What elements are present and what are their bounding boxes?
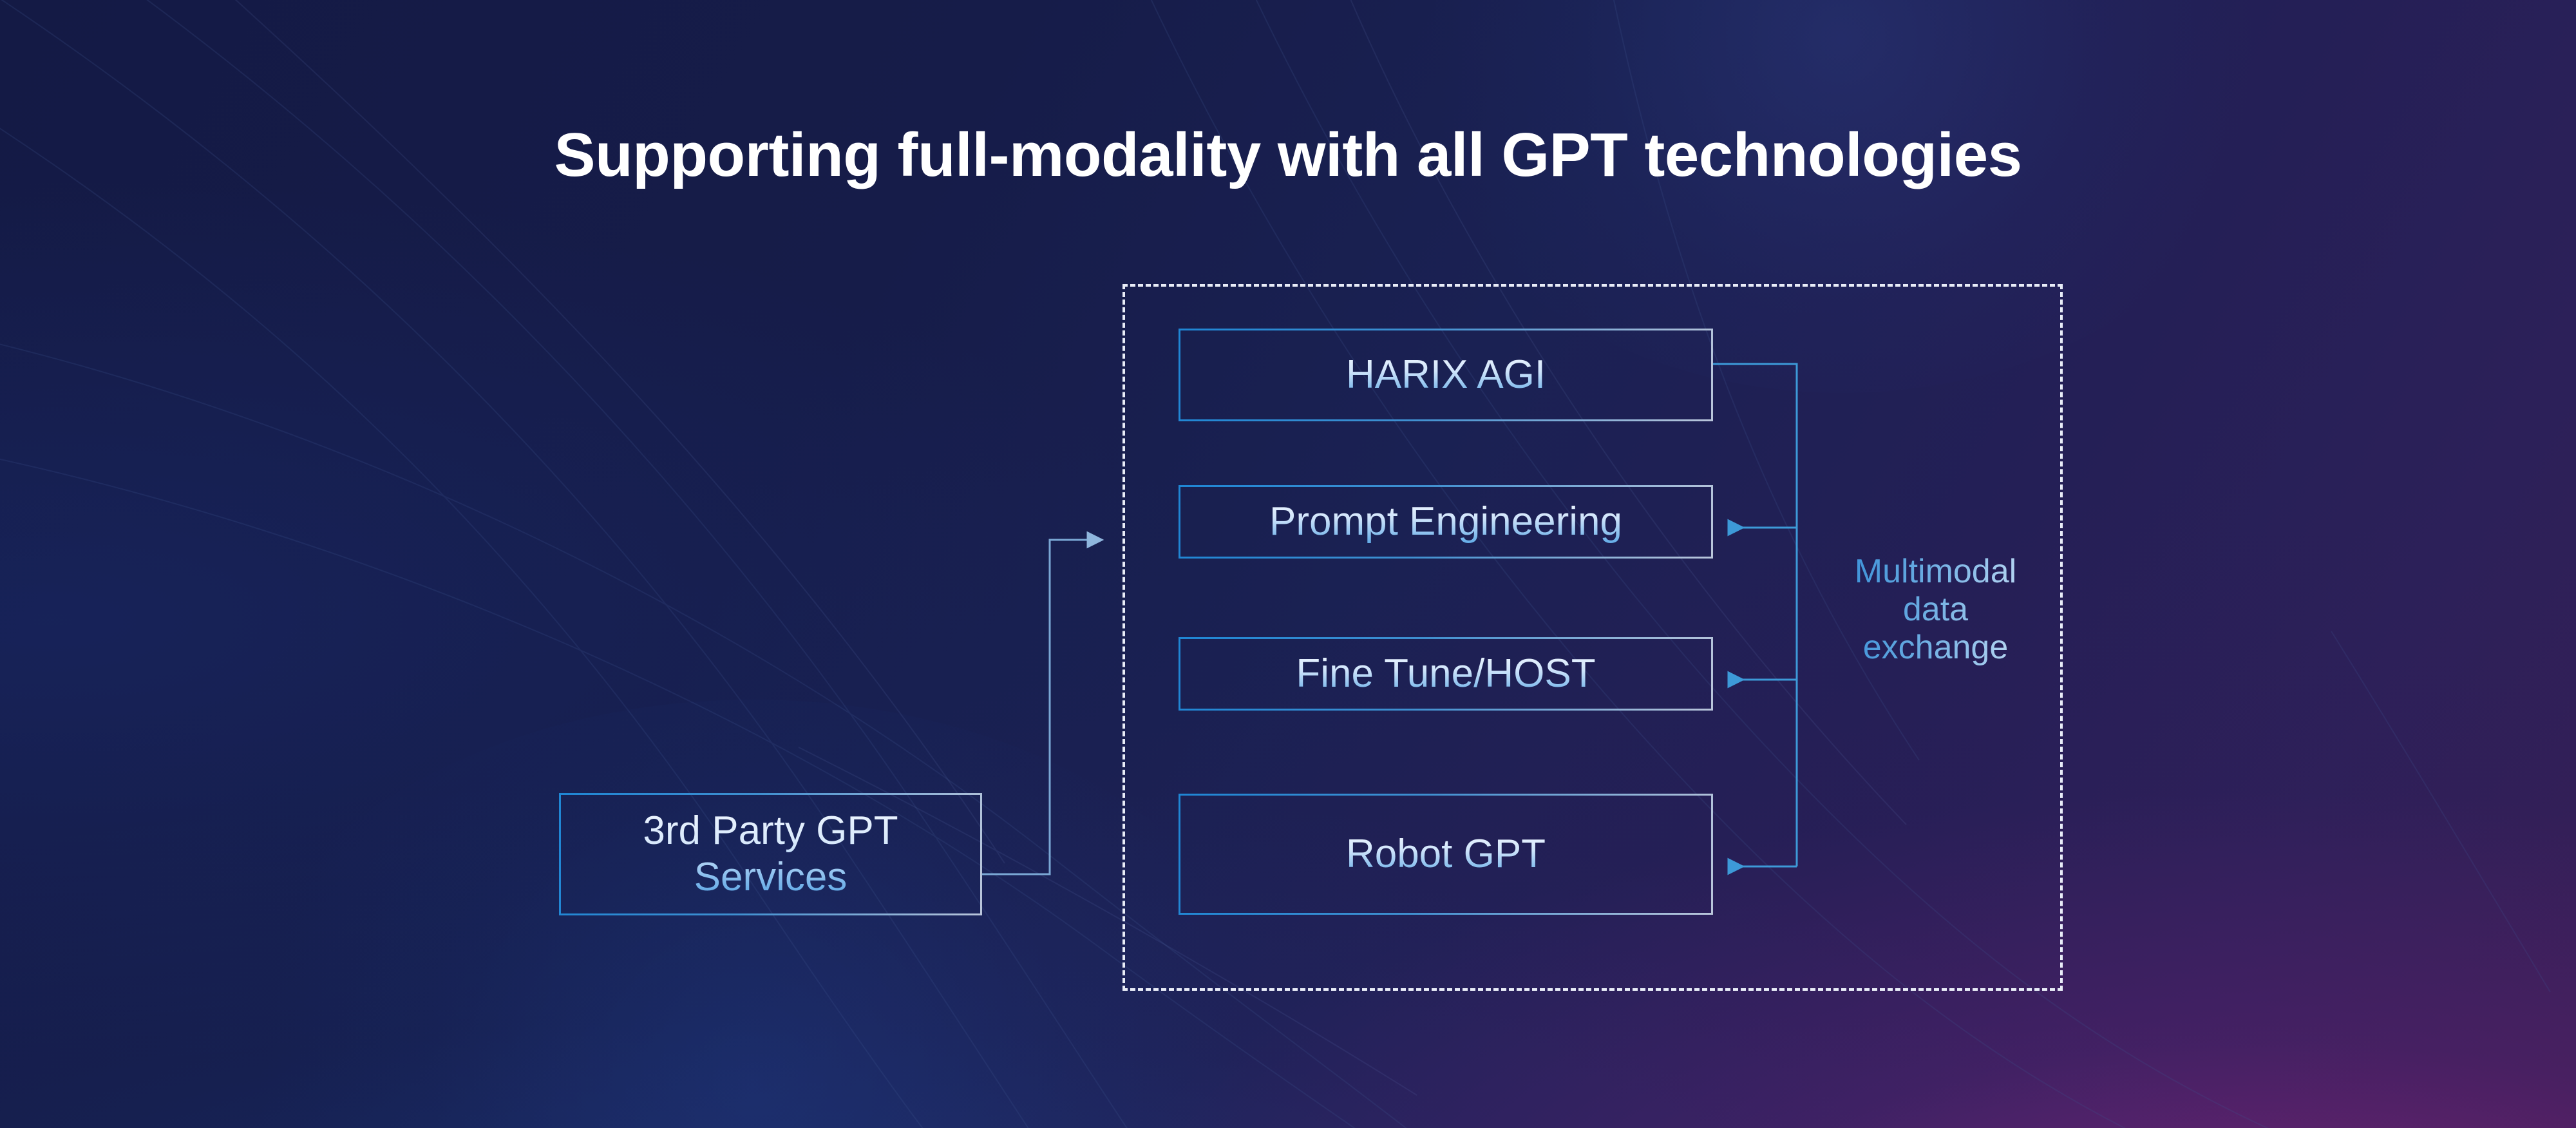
node-third-party-gpt-services-label: 3rd Party GPT Services: [643, 808, 898, 901]
node-prompt-engineering-label: Prompt Engineering: [1269, 499, 1622, 545]
third-party-line-2: Services: [694, 855, 848, 899]
multimodal-line-1: Multimodal: [1855, 553, 2016, 590]
multimodal-line-2: data: [1903, 591, 1968, 628]
node-third-party-gpt-services[interactable]: 3rd Party GPT Services: [559, 793, 982, 915]
page-title: Supporting full-modality with all GPT te…: [0, 120, 2576, 191]
node-fine-tune-host[interactable]: Fine Tune/HOST: [1179, 637, 1713, 711]
slide-canvas: Supporting full-modality with all GPT te…: [0, 0, 2576, 1128]
node-robot-gpt[interactable]: Robot GPT: [1179, 794, 1713, 915]
multimodal-data-exchange-label: Multimodal data exchange: [1824, 553, 2047, 666]
node-fine-tune-host-label: Fine Tune/HOST: [1296, 651, 1595, 697]
node-harix-agi-label: HARIX AGI: [1346, 352, 1546, 398]
multimodal-line-3: exchange: [1863, 629, 2009, 666]
node-robot-gpt-label: Robot GPT: [1346, 831, 1546, 877]
node-prompt-engineering[interactable]: Prompt Engineering: [1179, 485, 1713, 559]
third-party-line-1: 3rd Party GPT: [643, 808, 898, 853]
node-harix-agi[interactable]: HARIX AGI: [1179, 329, 1713, 421]
